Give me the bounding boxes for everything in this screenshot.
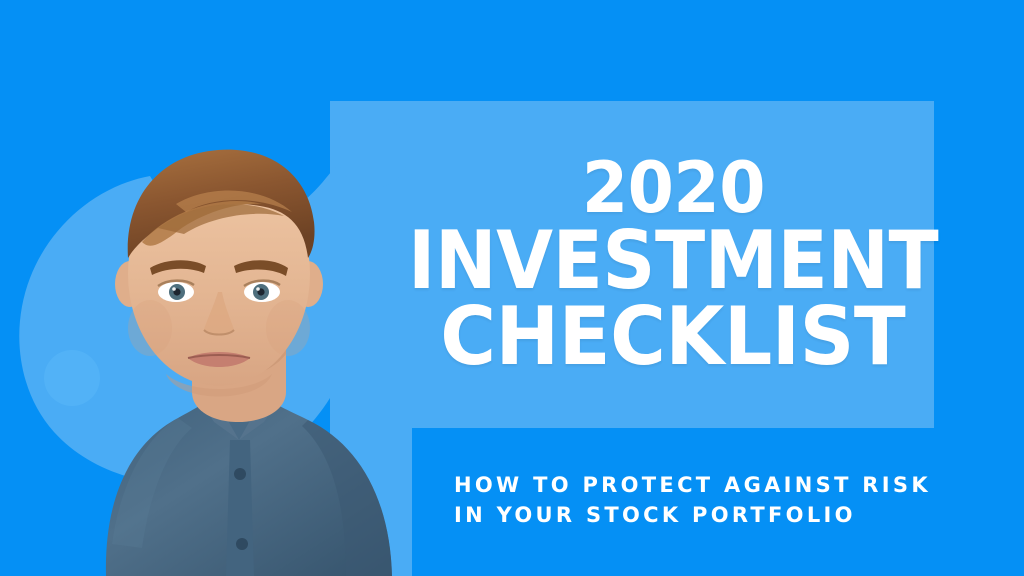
portrait-head: [128, 150, 315, 397]
title-main: INVESTMENT: [408, 224, 938, 298]
presenter-portrait: [46, 92, 446, 576]
title-block: 2020 INVESTMENT CHECKLIST: [412, 101, 934, 428]
subtitle-line-1: HOW TO PROTECT AGAINST RISK: [454, 470, 954, 500]
subtitle-block: HOW TO PROTECT AGAINST RISK IN YOUR STOC…: [454, 470, 954, 531]
title-sub: CHECKLIST: [441, 300, 906, 374]
title-year: 2020: [581, 156, 764, 220]
subtitle-line-2: IN YOUR STOCK PORTFOLIO: [454, 500, 954, 530]
thumbnail-canvas: 2020 INVESTMENT CHECKLIST HOW TO PROTECT…: [0, 0, 1024, 576]
portrait-illustration: [46, 92, 446, 576]
